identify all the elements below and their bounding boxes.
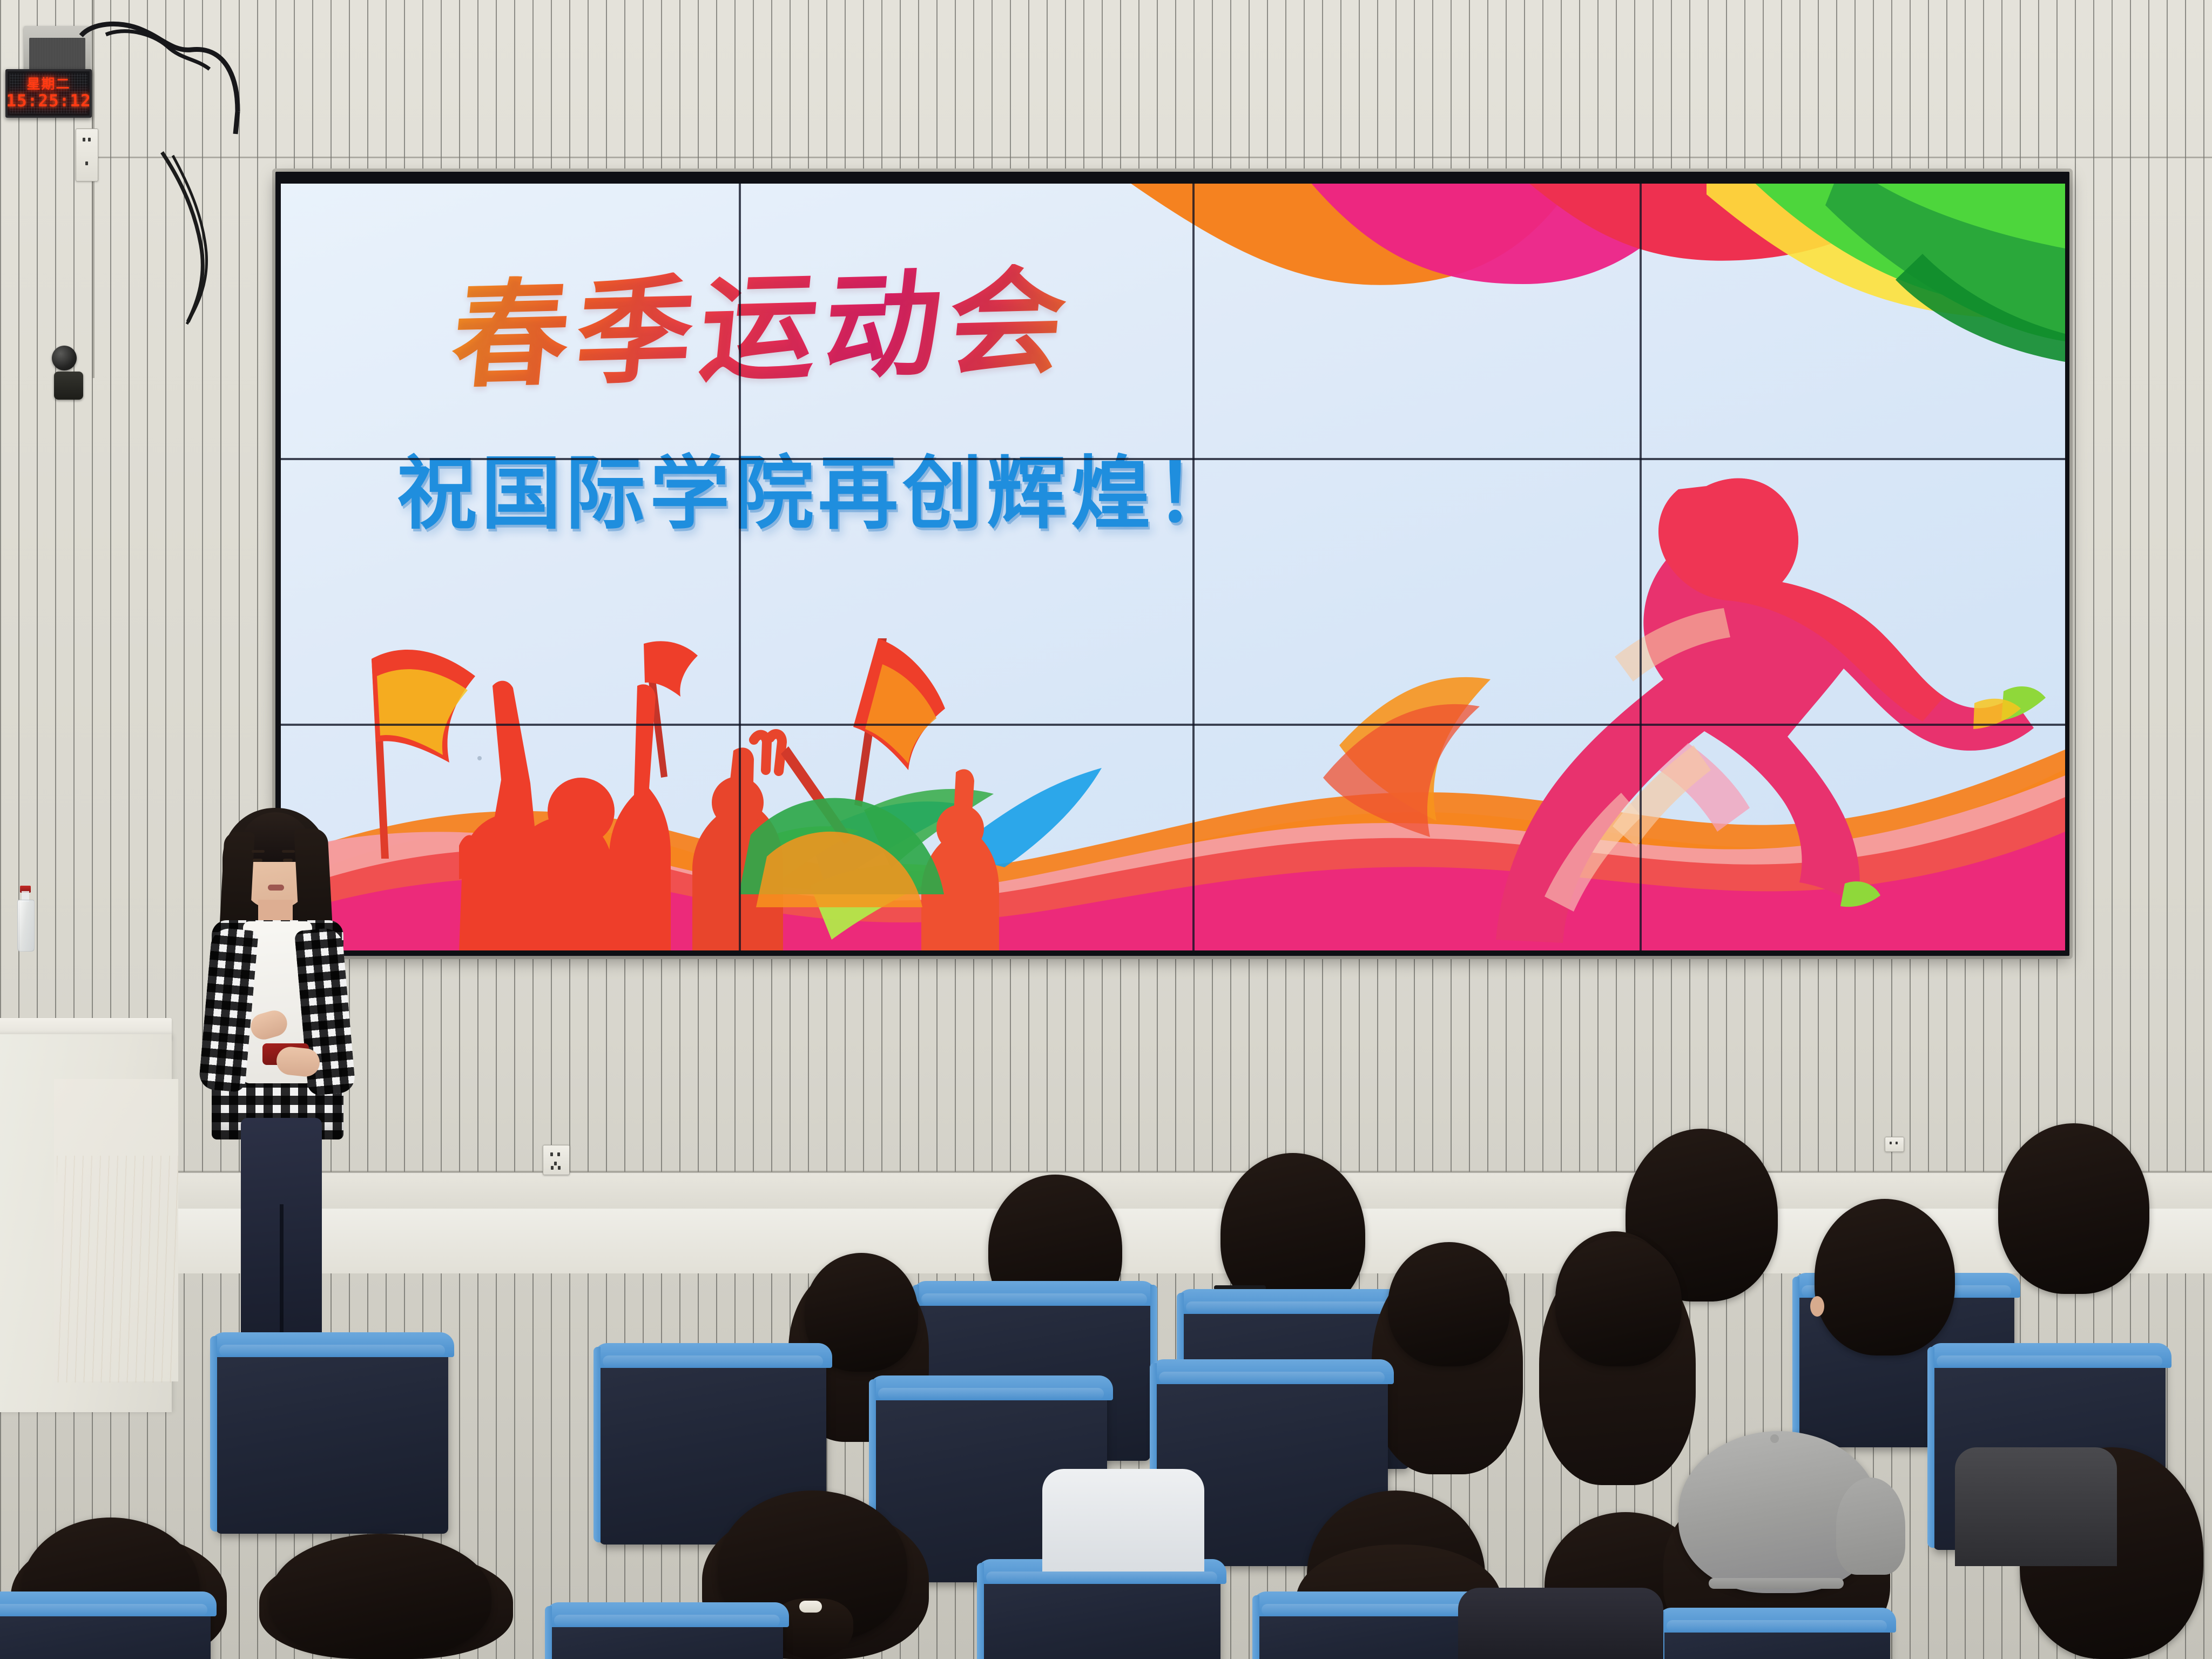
panel-bezel-h2 (281, 724, 2065, 726)
seat-highlight (878, 1388, 1104, 1400)
clock-weekday: 星期二 (26, 77, 70, 91)
cap-button-icon (1770, 1434, 1779, 1443)
lcd-video-wall[interactable]: 春季运动会 祝国际学院再创辉煌！ (275, 172, 2069, 956)
wall-camera-icon (52, 346, 77, 370)
audience-shoulder-white (1042, 1469, 1204, 1572)
slide-headline: 春季运动会 (447, 262, 1078, 394)
bottle-body (17, 900, 35, 952)
clock-time: 15:25:12 (6, 93, 91, 110)
power-outlet-right[interactable] (1885, 1137, 1904, 1152)
water-bottle[interactable] (17, 886, 33, 950)
cap-brim (1836, 1478, 1905, 1575)
seat-front-4[interactable] (1258, 1599, 1485, 1659)
presenter-brow-left (252, 850, 265, 853)
panel-bezel-v2 (1192, 184, 1195, 950)
photo-scene: 星期二 15:25:12 (0, 0, 2212, 1659)
audience-shoulder-dark (1458, 1588, 1663, 1659)
seat-highlight (554, 1615, 780, 1627)
led-wall-clock: 星期二 15:25:12 (5, 69, 92, 118)
panel-bezel-v1 (739, 184, 741, 950)
seat-highlight (1937, 1355, 2162, 1367)
seat-mid-1[interactable] (216, 1339, 448, 1534)
slide-subline: 祝国际学院再创辉煌！ (397, 454, 1239, 534)
seat-front-3[interactable] (983, 1566, 1220, 1659)
presenter-eye-right (283, 859, 293, 862)
seat-highlight (921, 1293, 1147, 1305)
seat-highlight (986, 1572, 1217, 1583)
audience-ear (1810, 1296, 1824, 1317)
cap-strap (1709, 1578, 1844, 1589)
seat-front-2[interactable] (551, 1609, 783, 1659)
power-outlet-lower[interactable] (543, 1145, 570, 1175)
lectern-wood-panel (57, 1156, 178, 1382)
seat-highlight (0, 1604, 207, 1616)
panel-bezel-h1 (281, 458, 2065, 460)
audience-head-mid-4 (1815, 1199, 1955, 1355)
panel-bezel-v3 (1640, 184, 1642, 950)
seat-highlight (1186, 1301, 1406, 1313)
seat-highlight (1262, 1604, 1482, 1616)
seat-front-5[interactable] (1663, 1615, 1890, 1659)
presenter-eye-left (253, 859, 262, 862)
seat-highlight (1159, 1372, 1385, 1384)
seat-front-1[interactable] (0, 1599, 211, 1659)
audience-head-back-4 (1998, 1123, 2149, 1294)
cable-bundle (59, 19, 286, 354)
seat-highlight (219, 1345, 445, 1357)
power-outlet-upper[interactable] (76, 129, 98, 181)
hair-scrunchie-icon (799, 1601, 822, 1613)
seat-highlight (603, 1355, 823, 1367)
audience-head-mid-2 (1388, 1242, 1510, 1366)
presenter-mouth (268, 885, 284, 891)
seat-highlight (1667, 1620, 1887, 1632)
video-wall-screen: 春季运动会 祝国际学院再创辉煌！ (281, 184, 2065, 950)
presenter-brow-right (282, 850, 295, 853)
wall-seam-horizontal-upper (92, 157, 2212, 158)
audience-head-front-2 (270, 1534, 491, 1659)
audience-head-mid-3 (1555, 1237, 1682, 1366)
audience-shoulder-gray (1955, 1447, 2117, 1566)
wall-camera-mount (54, 372, 83, 400)
